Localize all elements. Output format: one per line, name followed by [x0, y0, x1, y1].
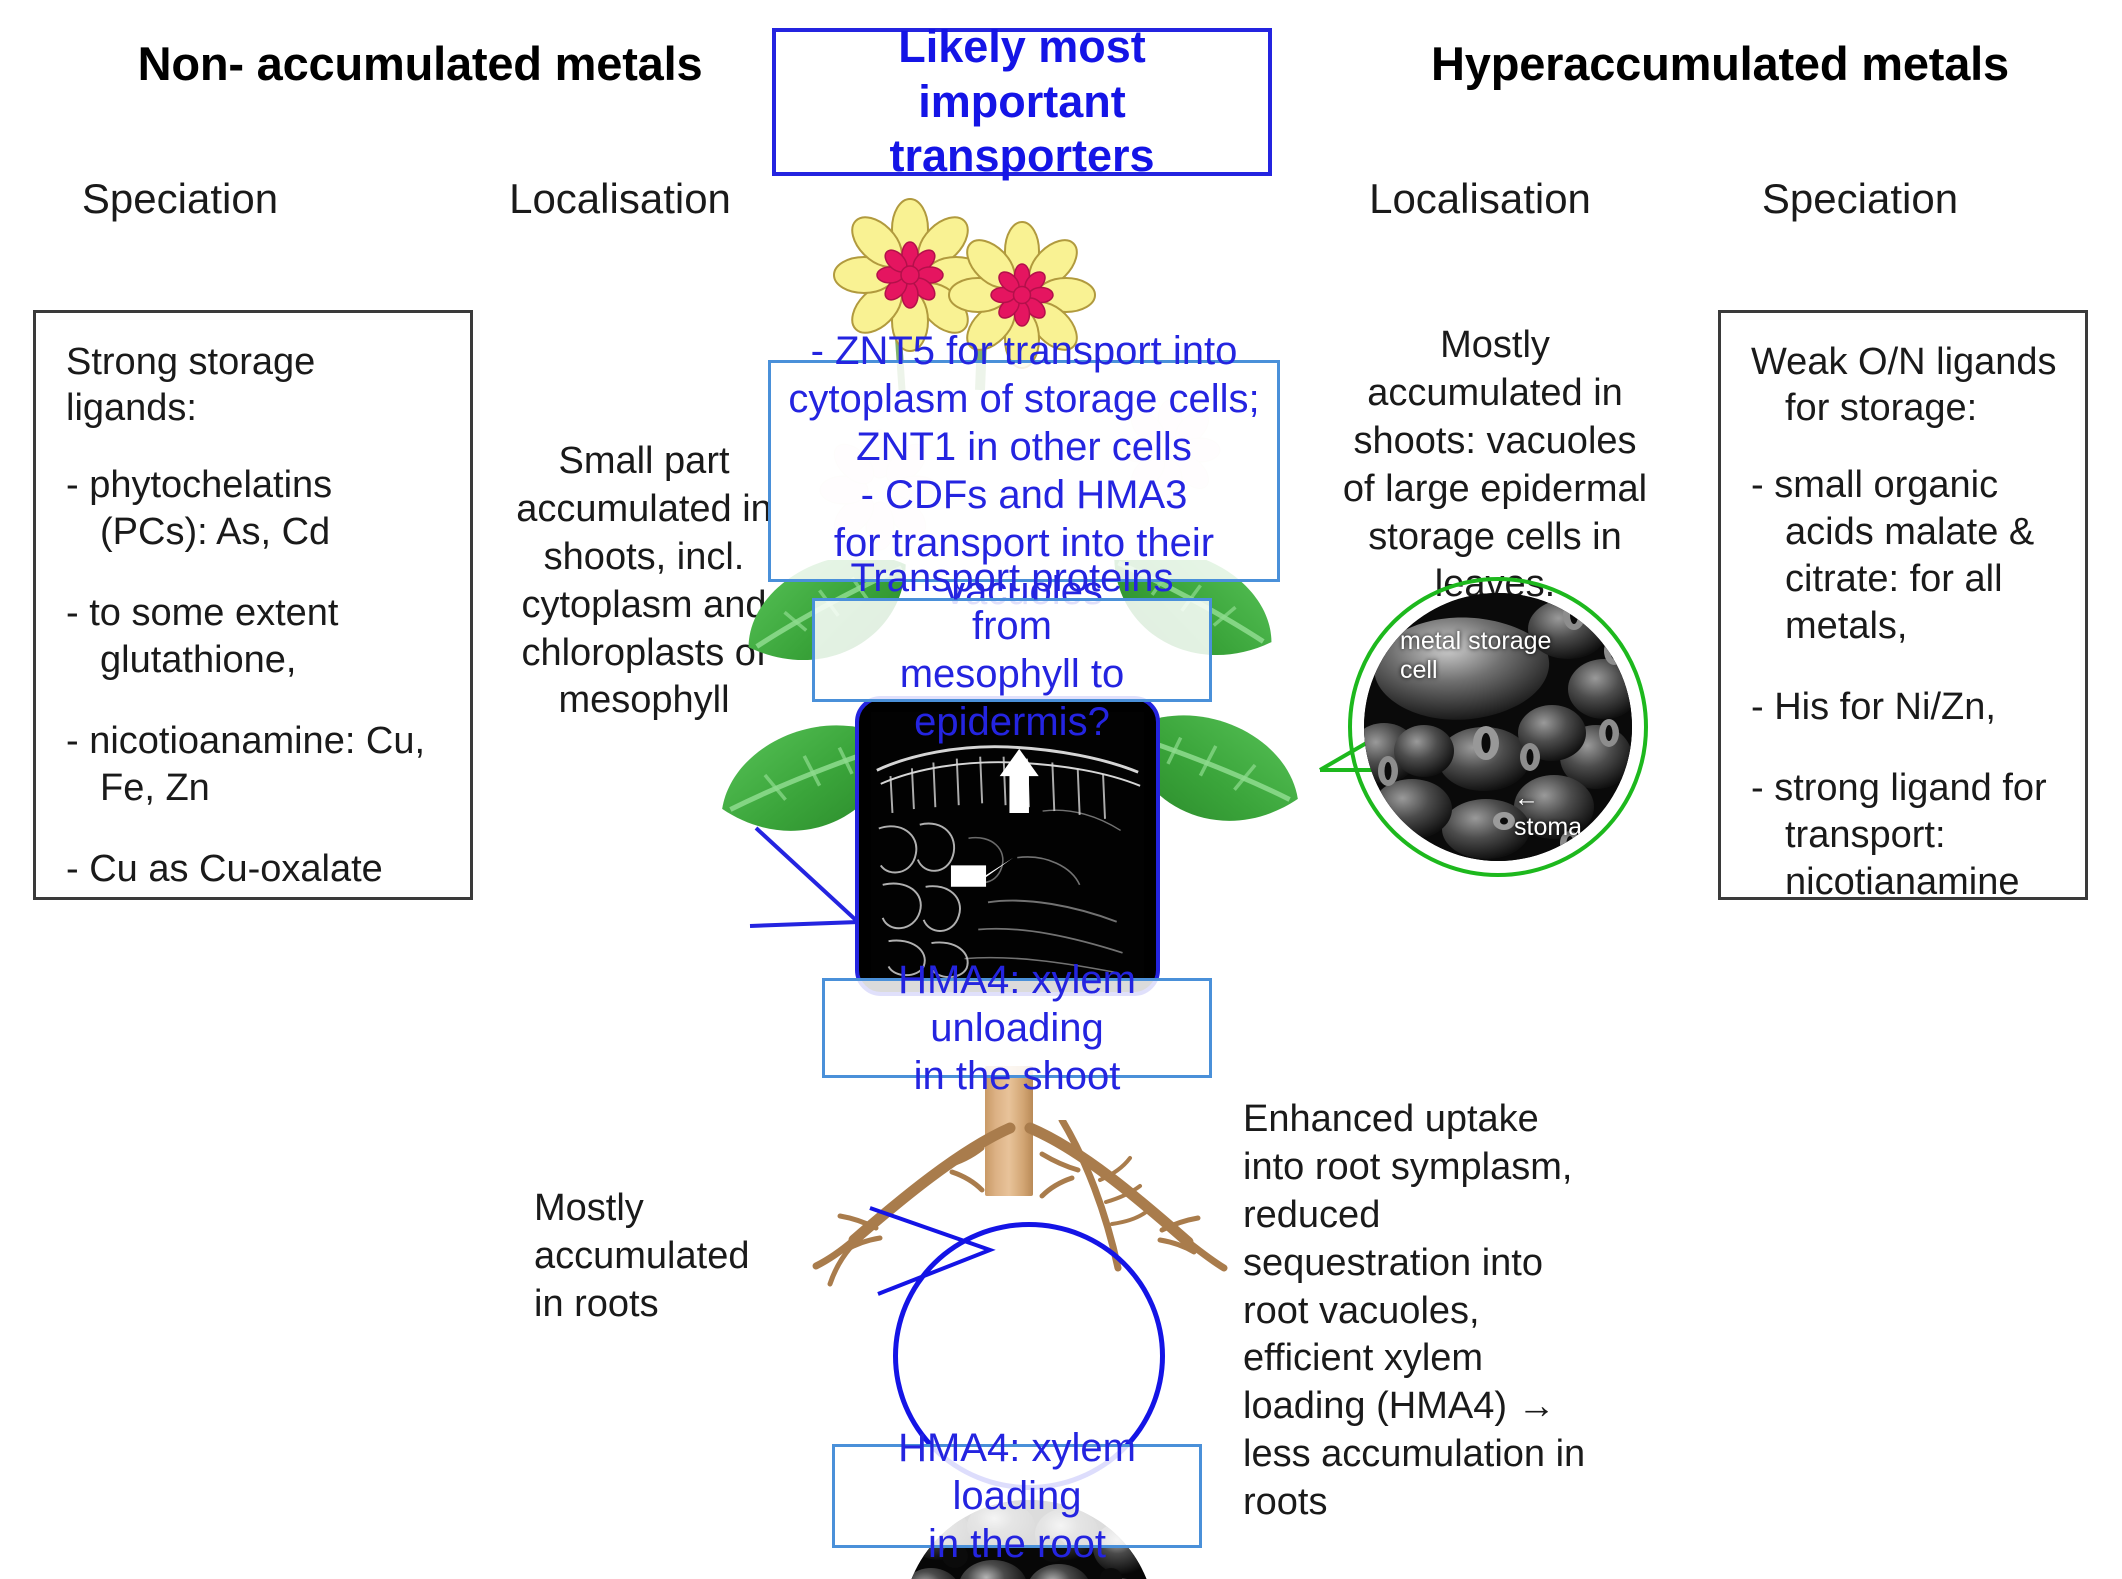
heading-left-localisation: Localisation — [440, 175, 800, 223]
title-box-line-2: transporters — [794, 129, 1250, 184]
heading-right-localisation: Localisation — [1300, 175, 1660, 223]
heading-right-speciation: Speciation — [1680, 175, 2040, 223]
right-spec-item-3: - strong ligand for transport: nicotiana… — [1751, 765, 2059, 906]
epidermis-sem-micrograph: metal storage cell ← stoma — [1364, 593, 1632, 861]
hma4-shoot-box: HMA4: xylem unloading in the shoot — [822, 978, 1212, 1078]
title-box-line-1: Likely most important — [794, 20, 1250, 130]
right-localisation-root-text: Enhanced uptake into root symplasm, redu… — [1243, 1096, 1593, 1527]
heading-non-accumulated-metals: Non- accumulated metals — [80, 36, 760, 91]
right-localisation-shoot-text: Mostly accumulated in shoots: vacuoles o… — [1335, 322, 1655, 609]
right-speciation-box: Weak O/N ligands for storage: - small or… — [1718, 310, 2088, 900]
mesophyll-epidermis-text: Transport proteins from mesophyll to epi… — [815, 554, 1209, 746]
left-localisation-root-text: Mostly accumulated in roots — [534, 1185, 784, 1329]
stoma-label-text: stoma — [1514, 813, 1582, 841]
right-spec-heading: Weak O/N ligands for storage: — [1751, 339, 2059, 432]
left-speciation-box: Strong storage ligands: - phytochelatins… — [33, 310, 473, 900]
left-spec-item-1: - phytochelatins (PCs): As, Cd — [66, 462, 444, 556]
likely-most-important-transporters-box: Likely most important transporters — [772, 28, 1272, 176]
left-spec-item-4: - Cu as Cu-oxalate — [66, 846, 444, 893]
hma4-root-text: HMA4: xylem loading in the root — [835, 1424, 1199, 1568]
hma4-root-box: HMA4: xylem loading in the root — [832, 1444, 1202, 1548]
heading-hyperaccumulated-metals: Hyperaccumulated metals — [1340, 36, 2100, 91]
sem-label-metal-storage-cell: metal storage cell — [1400, 627, 1551, 685]
left-spec-item-3: - nicotioanamine: Cu, Fe, Zn — [66, 718, 444, 812]
diagram-canvas: Non- accumulated metals Hyperaccumulated… — [0, 0, 2122, 1579]
mesophyll-epidermis-box: Transport proteins from mesophyll to epi… — [812, 598, 1212, 702]
left-spec-heading: Strong storage ligands: — [66, 339, 444, 432]
right-spec-item-1: - small organic acids malate & citrate: … — [1751, 462, 2059, 650]
right-spec-item-2: - His for Ni/Zn, — [1751, 684, 2059, 731]
left-spec-item-2: - to some extent glutathione, — [66, 590, 444, 684]
stoma-arrow-icon: ← — [1514, 784, 1539, 812]
heading-left-speciation: Speciation — [0, 175, 360, 223]
sem-label-stoma: ← stoma — [1514, 755, 1582, 841]
hma4-shoot-text: HMA4: xylem unloading in the shoot — [825, 956, 1209, 1100]
root-to-micrograph-connector — [860, 1190, 1080, 1390]
znt-transporter-box: - ZNT5 for transport into cytoplasm of s… — [768, 360, 1280, 582]
